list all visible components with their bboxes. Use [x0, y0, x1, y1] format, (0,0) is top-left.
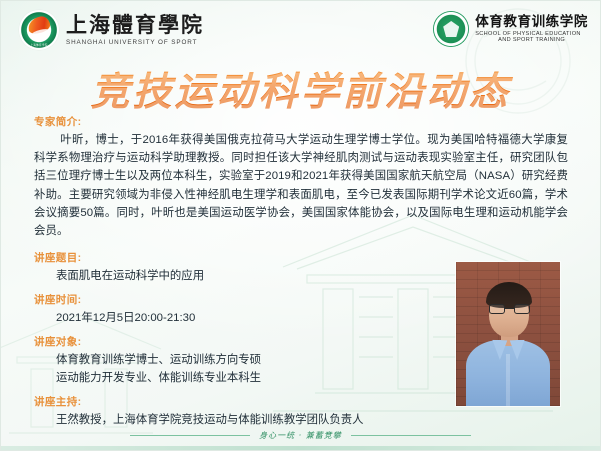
school-name-right: 体育教育训练学院 SCHOOL OF PHYSICAL EDUCATION AN…: [475, 15, 588, 44]
shirt-placket: [506, 354, 510, 406]
bio-text: 叶昕，博士，于2016年获得美国俄克拉荷马大学运动生理学博士学位。现为美国哈特福…: [34, 131, 568, 240]
school-logo-right: 体育教育训练学院 SCHOOL OF PHYSICAL EDUCATION AN…: [433, 11, 588, 47]
university-name-cn: 上海體育學院: [66, 14, 204, 36]
glasses-icon: [489, 304, 530, 315]
flame-icon: [27, 15, 52, 35]
bio-block: 专家简介: 叶昕，博士，于2016年获得美国俄克拉荷马大学运动生理学博士学位。现…: [34, 114, 574, 240]
host-text: 王然教授，上海体育学院竞技运动与体能训练教学团队负责人: [34, 411, 574, 429]
bio-label: 专家简介:: [34, 114, 574, 129]
speaker-portrait: [456, 262, 560, 406]
poster-header: 上海体育学院 上海體育學院 SHANGHAI UNIVERSITY OF SPO…: [1, 1, 601, 58]
footer-rule-right: [351, 435, 471, 436]
poster-canvas: 上海体育学院 上海體育學院 SHANGHAI UNIVERSITY OF SPO…: [0, 0, 601, 451]
university-motto: 身心一统 · 兼蓄竞攀: [259, 430, 342, 441]
sus-crest-icon: 上海体育学院: [19, 10, 59, 50]
poster-footer: 身心一统 · 兼蓄竞攀: [1, 430, 600, 441]
footer-rule-left: [130, 435, 250, 436]
university-name-left: 上海體育學院 SHANGHAI UNIVERSITY OF SPORT: [66, 14, 204, 45]
school-crest-icon: [433, 11, 469, 47]
lens-left: [489, 304, 505, 314]
poster-title: 竞技运动科学前沿动态: [1, 61, 600, 117]
university-logo-left: 上海体育学院 上海體育學院 SHANGHAI UNIVERSITY OF SPO…: [19, 10, 204, 50]
bottom-band: [1, 446, 600, 450]
crest-ring-text: 上海体育学院: [19, 43, 59, 47]
school-name-cn: 体育教育训练学院: [475, 15, 588, 30]
bio-paragraph: 叶昕，博士，于2016年获得美国俄克拉荷马大学运动生理学博士学位。现为美国哈特福…: [34, 134, 568, 237]
school-name-en-line2: AND SPORT TRAINING: [475, 37, 588, 43]
university-name-en: SHANGHAI UNIVERSITY OF SPORT: [66, 39, 204, 46]
glasses-bridge: [505, 308, 514, 309]
lens-right: [514, 304, 530, 314]
